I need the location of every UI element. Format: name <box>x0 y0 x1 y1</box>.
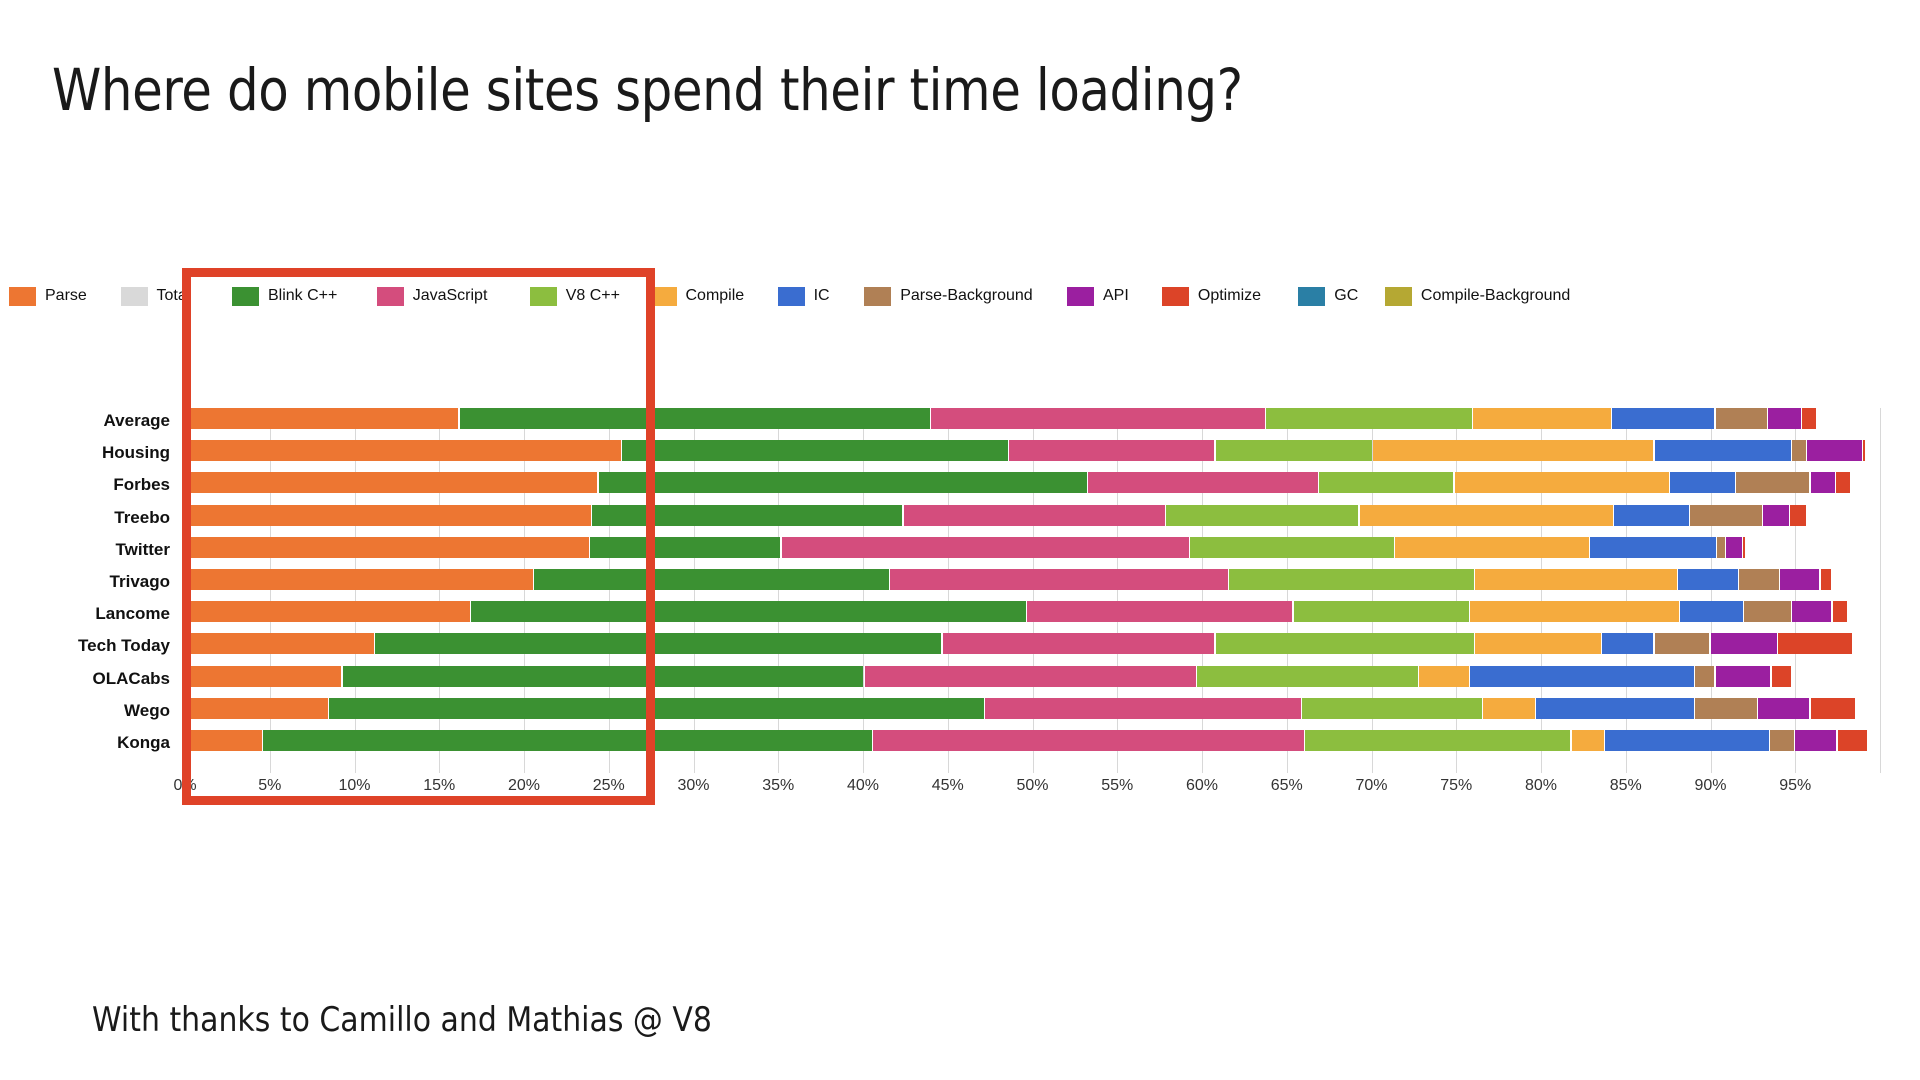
bar-segment-v8-c[interactable] <box>1197 666 1418 687</box>
bar-segment-blink-c[interactable] <box>471 601 1026 622</box>
x-axis-tick-label: 40% <box>847 777 879 795</box>
y-axis-label-konga: Konga <box>117 734 170 751</box>
bar-segment-api[interactable] <box>1716 666 1771 687</box>
bar-segment-parse-background[interactable] <box>1792 440 1806 461</box>
x-axis-tick-label: 15% <box>423 777 455 795</box>
bar-segment-v8-c[interactable] <box>1266 408 1472 429</box>
bar-segment-compile[interactable] <box>1360 505 1613 526</box>
bar-segment-v8-c[interactable] <box>1294 601 1469 622</box>
bar-segment-optimize[interactable] <box>1778 633 1851 654</box>
bar-segment-javascript[interactable] <box>782 537 1189 558</box>
x-axis-tick-label: 90% <box>1694 777 1726 795</box>
bar-segment-ic[interactable] <box>1470 666 1694 687</box>
bar-segment-optimize[interactable] <box>1811 698 1856 719</box>
bar-segment-blink-c[interactable] <box>375 633 942 654</box>
bar-segment-compile[interactable] <box>1475 569 1677 590</box>
bar-segment-blink-c[interactable] <box>329 698 984 719</box>
bar-segment-parse[interactable] <box>185 408 458 429</box>
bar-segment-blink-c[interactable] <box>263 730 872 751</box>
bar-segment-parse[interactable] <box>185 633 374 654</box>
bar-segment-ic[interactable] <box>1605 730 1768 751</box>
bar-segment-api[interactable] <box>1795 730 1836 751</box>
y-axis-label-average: Average <box>104 412 170 429</box>
gridline <box>1880 408 1881 773</box>
bar-segment-api[interactable] <box>1711 633 1778 654</box>
x-axis-tick-label: 5% <box>258 777 281 795</box>
bar-segment-parse[interactable] <box>185 472 597 493</box>
bar-row[interactable] <box>185 730 1880 751</box>
x-axis-tick-label: 10% <box>338 777 370 795</box>
bar-segment-parse[interactable] <box>185 569 533 590</box>
bar-segment-v8-c[interactable] <box>1216 633 1474 654</box>
bar-segment-optimize[interactable] <box>1772 666 1791 687</box>
bar-segment-javascript[interactable] <box>865 666 1196 687</box>
y-axis-label-forbes: Forbes <box>113 476 170 493</box>
bar-row[interactable] <box>185 408 1880 429</box>
bar-segment-parse-background[interactable] <box>1770 730 1794 751</box>
y-axis-label-olacabs: OLACabs <box>93 670 170 687</box>
x-axis-tick-label: 45% <box>932 777 964 795</box>
bar-segment-optimize[interactable] <box>1863 440 1865 461</box>
bar-segment-javascript[interactable] <box>890 569 1228 590</box>
bar-row[interactable] <box>185 601 1880 622</box>
bar-segment-compile[interactable] <box>1419 666 1469 687</box>
bar-segment-optimize[interactable] <box>1790 505 1806 526</box>
bar-segment-javascript[interactable] <box>985 698 1301 719</box>
bar-segment-v8-c[interactable] <box>1190 537 1394 558</box>
bar-segment-compile[interactable] <box>1473 408 1611 429</box>
bar-segment-javascript[interactable] <box>1009 440 1215 461</box>
y-axis-label-trivago: Trivago <box>110 573 170 590</box>
bar-segment-parse[interactable] <box>185 505 591 526</box>
bar-segment-blink-c[interactable] <box>599 472 1088 493</box>
bar-segment-parse-background[interactable] <box>1736 472 1809 493</box>
bar-segment-ic[interactable] <box>1614 505 1689 526</box>
x-axis-tick-label: 35% <box>762 777 794 795</box>
bar-segment-compile[interactable] <box>1395 537 1589 558</box>
bar-segment-parse-background[interactable] <box>1695 666 1714 687</box>
bar-segment-optimize[interactable] <box>1802 408 1816 429</box>
bar-segment-api[interactable] <box>1807 440 1862 461</box>
slide-root: Where do mobile sites spend their time l… <box>0 0 1920 1080</box>
bar-segment-compile[interactable] <box>1455 472 1669 493</box>
bar-segment-api[interactable] <box>1792 601 1831 622</box>
x-axis-tick-label: 50% <box>1016 777 1048 795</box>
x-axis-tick-label: 70% <box>1355 777 1387 795</box>
bar-segment-parse[interactable] <box>185 537 589 558</box>
bar-segment-v8-c[interactable] <box>1229 569 1474 590</box>
bar-segment-api[interactable] <box>1763 505 1789 526</box>
bar-segment-javascript[interactable] <box>931 408 1265 429</box>
bar-segment-optimize[interactable] <box>1743 537 1745 558</box>
y-axis-label-lancome: Lancome <box>95 605 170 622</box>
bar-segment-parse-background[interactable] <box>1744 601 1790 622</box>
bar-row[interactable] <box>185 440 1880 461</box>
stacked-bar-chart: ParseTotalBlink C++JavaScriptV8 C++Compi… <box>0 255 1920 795</box>
bar-segment-parse-background[interactable] <box>1739 569 1778 590</box>
bar-segment-compile[interactable] <box>1470 601 1679 622</box>
bar-segment-v8-c[interactable] <box>1166 505 1358 526</box>
bar-segment-ic[interactable] <box>1536 698 1694 719</box>
bar-row[interactable] <box>185 505 1880 526</box>
bar-segment-blink-c[interactable] <box>460 408 930 429</box>
bar-segment-ic[interactable] <box>1655 440 1791 461</box>
x-axis-tick-label: 75% <box>1440 777 1472 795</box>
bar-segment-v8-c[interactable] <box>1305 730 1570 751</box>
bar-segment-optimize[interactable] <box>1838 730 1867 751</box>
bar-segment-parse[interactable] <box>185 698 328 719</box>
bar-segment-javascript[interactable] <box>943 633 1215 654</box>
bar-segment-parse-background[interactable] <box>1717 537 1724 558</box>
bar-segment-blink-c[interactable] <box>343 666 864 687</box>
y-axis-label-treebo: Treebo <box>114 509 170 526</box>
bar-segment-api[interactable] <box>1768 408 1801 429</box>
bar-segment-optimize[interactable] <box>1833 601 1847 622</box>
bar-segment-compile[interactable] <box>1373 440 1653 461</box>
page-title: Where do mobile sites spend their time l… <box>52 56 1243 124</box>
bar-segment-ic[interactable] <box>1680 601 1743 622</box>
bar-segment-optimize[interactable] <box>1821 569 1832 590</box>
x-axis-tick-label: 95% <box>1779 777 1811 795</box>
bar-segment-ic[interactable] <box>1602 633 1653 654</box>
y-axis-label-housing: Housing <box>102 444 170 461</box>
bar-segment-ic[interactable] <box>1612 408 1714 429</box>
bar-segment-parse[interactable] <box>185 601 470 622</box>
bar-segment-javascript[interactable] <box>873 730 1304 751</box>
y-axis-label-wego: Wego <box>124 702 170 719</box>
y-axis-label-tech-today: Tech Today <box>78 637 170 654</box>
bar-segment-javascript[interactable] <box>904 505 1166 526</box>
bar-segment-ic[interactable] <box>1670 472 1735 493</box>
y-axis-label-twitter: Twitter <box>116 541 170 558</box>
bar-row[interactable] <box>185 569 1880 590</box>
bar-segment-v8-c[interactable] <box>1302 698 1482 719</box>
bar-segment-parse-background[interactable] <box>1695 698 1757 719</box>
bar-segment-compile[interactable] <box>1475 633 1601 654</box>
bar-segment-parse-background[interactable] <box>1655 633 1710 654</box>
bar-segment-api[interactable] <box>1758 698 1809 719</box>
bar-row[interactable] <box>185 698 1880 719</box>
bar-segment-v8-c[interactable] <box>1216 440 1372 461</box>
bar-row[interactable] <box>185 537 1880 558</box>
footer-credit: With thanks to Camillo and Mathias @ V8 <box>92 1000 712 1040</box>
bar-segment-javascript[interactable] <box>1088 472 1317 493</box>
x-axis-tick-label: 80% <box>1525 777 1557 795</box>
bar-row[interactable] <box>185 472 1880 493</box>
bar-segment-api[interactable] <box>1780 569 1819 590</box>
bar-segment-ic[interactable] <box>1678 569 1738 590</box>
bar-segment-optimize[interactable] <box>1836 472 1850 493</box>
bar-segment-ic[interactable] <box>1590 537 1716 558</box>
bar-segment-parse-background[interactable] <box>1690 505 1762 526</box>
bar-segment-parse[interactable] <box>185 666 341 687</box>
x-axis-tick-label: 60% <box>1186 777 1218 795</box>
x-axis-tick-label: 25% <box>593 777 625 795</box>
bar-segment-parse[interactable] <box>185 440 621 461</box>
bar-segment-javascript[interactable] <box>1027 601 1292 622</box>
bar-segment-blink-c[interactable] <box>622 440 1007 461</box>
x-axis-tick-label: 20% <box>508 777 540 795</box>
plot-area: 0%5%10%15%20%25%30%35%40%45%50%55%60%65%… <box>185 255 1880 795</box>
bar-segment-blink-c[interactable] <box>592 505 903 526</box>
x-axis-tick-label: 65% <box>1271 777 1303 795</box>
bar-segment-compile[interactable] <box>1572 730 1605 751</box>
bar-row[interactable] <box>185 633 1880 654</box>
bar-segment-parse-background[interactable] <box>1716 408 1767 429</box>
x-axis-tick-label: 30% <box>677 777 709 795</box>
y-axis-labels: AverageHousingForbesTreeboTwitterTrivago… <box>0 255 178 795</box>
bar-segment-api[interactable] <box>1811 472 1835 493</box>
bar-segment-blink-c[interactable] <box>534 569 889 590</box>
bar-segment-parse[interactable] <box>185 730 262 751</box>
x-axis-tick-label: 55% <box>1101 777 1133 795</box>
x-axis-tick-label: 85% <box>1610 777 1642 795</box>
bar-segment-blink-c[interactable] <box>590 537 780 558</box>
x-axis-tick-label: 0% <box>173 777 196 795</box>
bar-row[interactable] <box>185 666 1880 687</box>
bar-segment-compile[interactable] <box>1483 698 1534 719</box>
bar-segment-v8-c[interactable] <box>1319 472 1453 493</box>
bar-segment-api[interactable] <box>1726 537 1742 558</box>
